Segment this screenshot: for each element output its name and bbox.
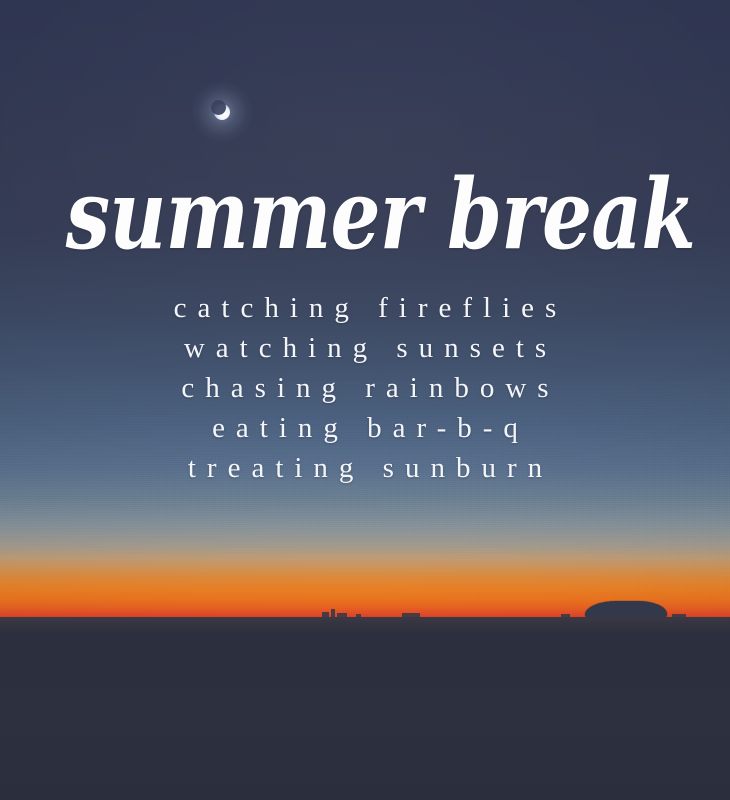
list-item: chasing rainbows: [0, 368, 730, 408]
foreground-ground: [0, 617, 730, 800]
moon-shadow: [211, 100, 226, 115]
list-item: catching fireflies: [0, 288, 730, 328]
list-item: treating sunburn: [0, 448, 730, 488]
summer-break-poster: summer break catching fireflies watching…: [0, 0, 730, 800]
list-item: eating bar-b-q: [0, 408, 730, 448]
distant-structure: [331, 609, 335, 617]
mesa-rock-silhouette: [585, 601, 667, 618]
list-item: watching sunsets: [0, 328, 730, 368]
page-title: summer break: [66, 163, 665, 267]
activity-list: catching fireflies watching sunsets chas…: [0, 288, 730, 488]
